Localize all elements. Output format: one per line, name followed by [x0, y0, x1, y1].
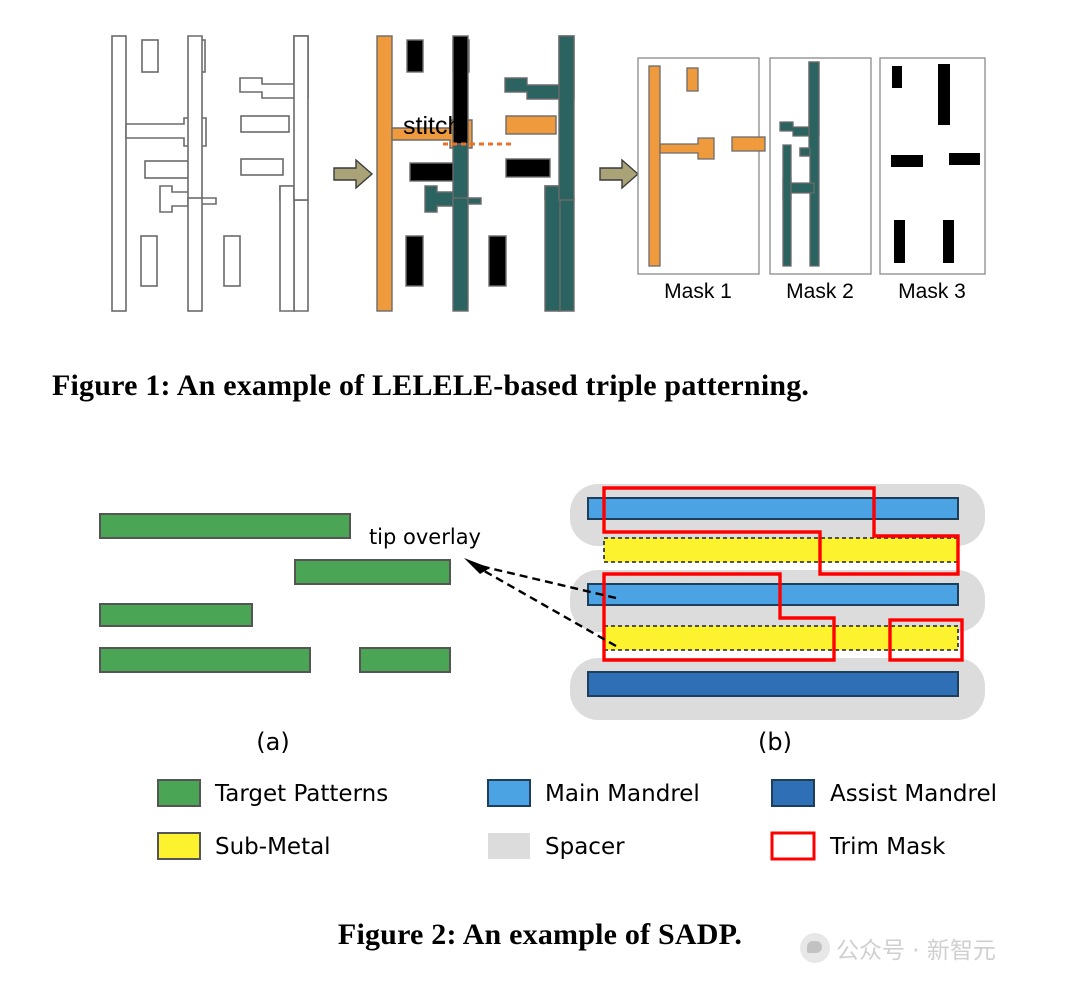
figure-2-graphic: tip overlay (a) (b) Target Patterns [60, 470, 1020, 880]
svg-text:Spacer: Spacer [545, 834, 625, 860]
fig1-mask-3-label: Mask 3 [898, 280, 966, 303]
svg-text:Main Mandrel: Main Mandrel [545, 781, 700, 807]
fig2-tip-overlay-label: tip overlay [369, 525, 481, 549]
svg-text:Assist Mandrel: Assist Mandrel [830, 781, 997, 807]
fig1-arrow-1 [334, 160, 372, 188]
fig1-mask-1 [638, 58, 765, 274]
svg-text:Target Patterns: Target Patterns [214, 781, 388, 807]
legend-trim-mask: Trim Mask [772, 833, 946, 860]
fig1-mask-2 [770, 58, 871, 274]
fig2-sublabel-b: (b) [758, 728, 792, 756]
fig2-panel-b: tip overlay [369, 484, 985, 720]
fig2-sublabel-a: (a) [256, 728, 289, 756]
fig1-arrow-2 [600, 160, 638, 188]
legend-assist-mandrel: Assist Mandrel [772, 780, 997, 807]
svg-text:Sub-Metal: Sub-Metal [215, 834, 331, 860]
figure-1-caption: Figure 1: An example of LELELE-based tri… [52, 366, 1042, 406]
svg-text:Trim Mask: Trim Mask [829, 834, 946, 860]
figure-2-caption: Figure 2: An example of SADP. [0, 915, 1080, 955]
legend-target-patterns: Target Patterns [158, 780, 388, 807]
fig1-mask-1-label: Mask 1 [664, 280, 732, 303]
fig1-mask-2-label: Mask 2 [786, 280, 854, 303]
figure-1-graphic: stitch [100, 28, 1000, 318]
legend-sub-metal: Sub-Metal [158, 833, 331, 860]
figure-page: stitch [0, 0, 1080, 989]
legend-main-mandrel: Main Mandrel [488, 780, 700, 807]
fig1-stitch-label: stitch [403, 112, 461, 140]
fig2-legend: Target Patterns Main Mandrel Assist Mand… [158, 780, 997, 860]
fig1-panel-colored [377, 36, 574, 311]
fig1-panel-outline [112, 36, 308, 311]
legend-spacer: Spacer [488, 833, 625, 860]
fig1-mask-3 [880, 58, 985, 274]
fig2-assist-mandrel-bar [588, 672, 958, 696]
